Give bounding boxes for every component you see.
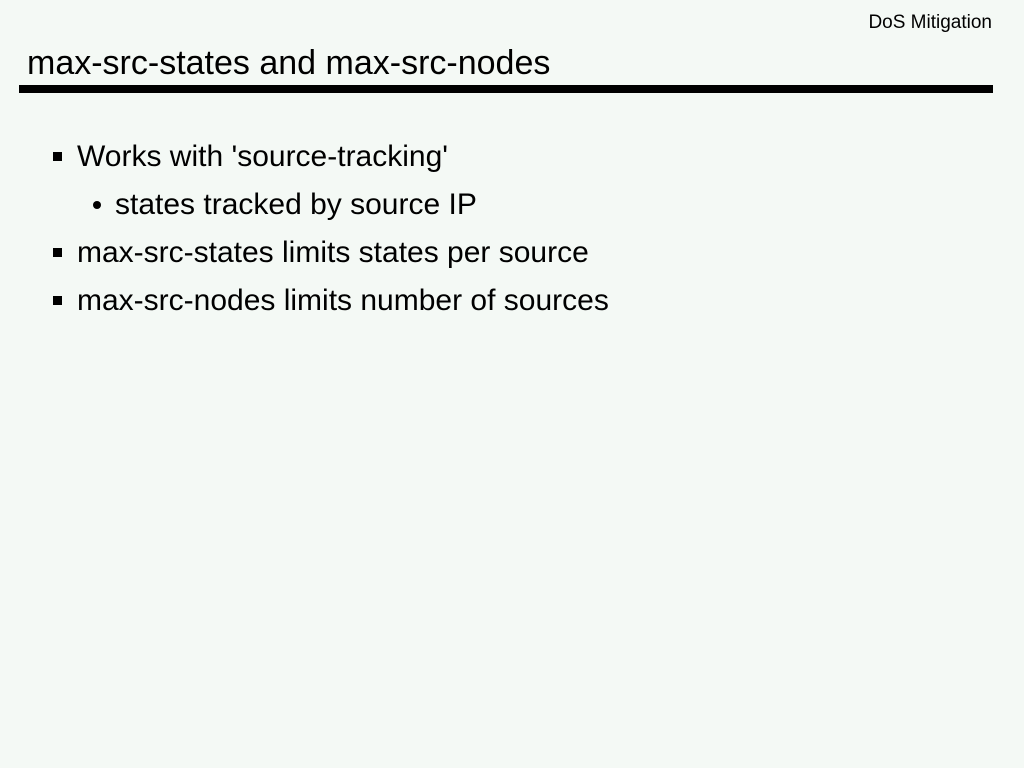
list-item: max-src-states limits states per source (0, 229, 1024, 277)
list-item: states tracked by source IP (0, 181, 1024, 229)
slide-title: max-src-states and max-src-nodes (27, 43, 550, 83)
list-item: max-src-nodes limits number of sources (0, 277, 1024, 325)
list-item-label: max-src-states limits states per source (77, 229, 589, 277)
list-item-label: max-src-nodes limits number of sources (77, 277, 609, 325)
round-bullet-icon (93, 201, 101, 209)
list-item-label: Works with 'source-tracking' (77, 133, 448, 181)
title-underline-rule (19, 85, 993, 93)
square-bullet-icon (53, 248, 62, 257)
list-item: Works with 'source-tracking' (0, 133, 1024, 181)
slide-canvas: DoS Mitigation max-src-states and max-sr… (0, 0, 1024, 768)
square-bullet-icon (53, 152, 62, 161)
square-bullet-icon (53, 296, 62, 305)
bullet-list: Works with 'source-tracking' states trac… (0, 133, 1024, 325)
list-item-label: states tracked by source IP (115, 181, 477, 229)
running-header: DoS Mitigation (868, 12, 992, 34)
